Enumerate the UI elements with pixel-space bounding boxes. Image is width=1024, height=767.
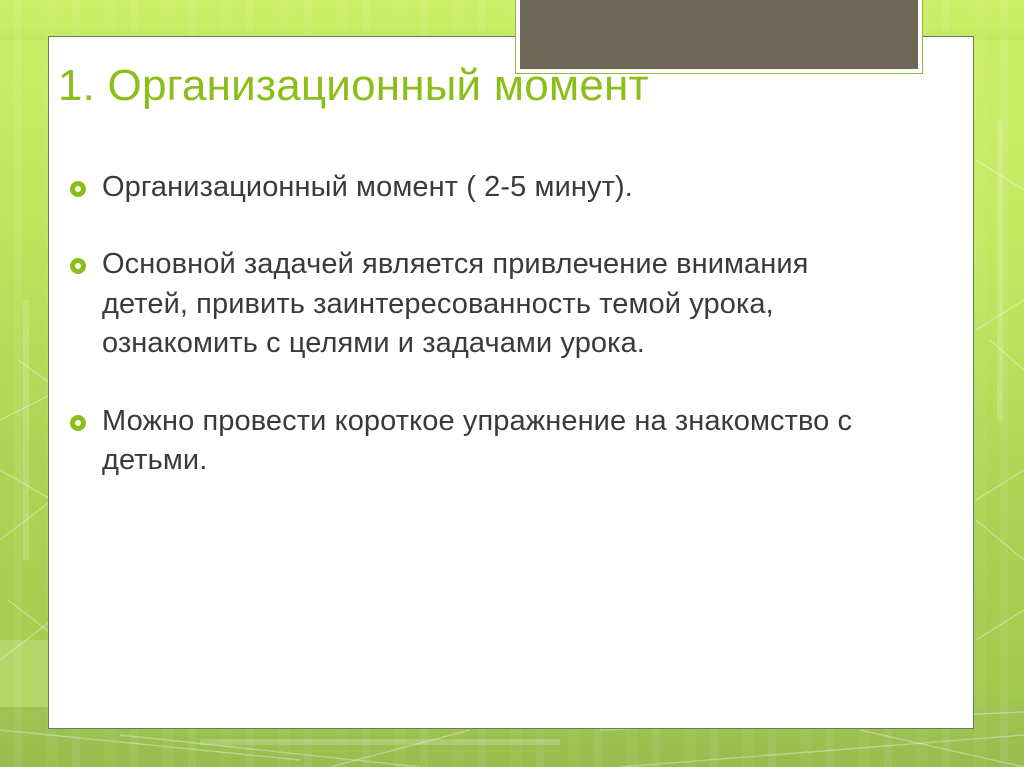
list-item: Организационный момент ( 2-5 минут). [70, 168, 860, 207]
frame-band-right [972, 0, 1024, 700]
list-item: Можно провести короткое упражнение на зн… [70, 402, 860, 481]
frame-band-left [0, 0, 52, 640]
list-item-text: Организационный момент ( 2-5 минут). [102, 168, 860, 207]
list-item-text: Основной задачей является привлечение вн… [102, 245, 860, 363]
circle-outline-bullet-icon [70, 258, 86, 274]
bullet-list: Организационный момент ( 2-5 минут). Осн… [70, 168, 860, 481]
picture-placeholder-fill [520, 0, 918, 69]
list-item-text: Можно провести короткое упражнение на зн… [102, 402, 860, 481]
circle-outline-bullet-icon [70, 415, 86, 431]
picture-placeholder[interactable] [515, 0, 923, 74]
list-item: Основной задачей является привлечение вн… [70, 245, 860, 363]
slide: 1. Организационный момент Организационны… [0, 0, 1024, 767]
circle-outline-bullet-icon [70, 181, 86, 197]
